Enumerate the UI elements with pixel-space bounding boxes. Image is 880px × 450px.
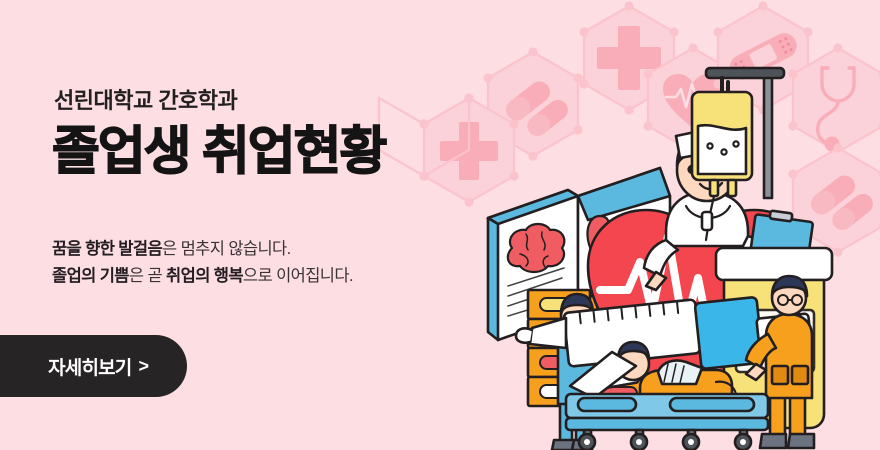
- bed-wheels: [579, 434, 751, 450]
- subtext-line-2: 졸업의 기쁨은 곧 취업의 행복으로 이어집니다.: [52, 263, 353, 290]
- subtext-group: 꿈을 향한 발걸음은 멈추지 않습니다. 졸업의 기쁨은 곧 취업의 행복으로 …: [52, 236, 353, 289]
- page-title: 졸업생 취업현황: [52, 126, 385, 178]
- hexagon-connector-nodes: [419, 119, 428, 180]
- subtext-line-2-middle: 은 곧: [129, 267, 166, 285]
- subtext-line-1: 꿈을 향한 발걸음은 멈추지 않습니다.: [52, 236, 353, 263]
- brain-diagram: [508, 224, 565, 272]
- subtext-line-1-rest: 은 멈추지 않습니다.: [162, 240, 291, 258]
- headline-group: 선린대학교 간호학과 졸업생 취업현황: [52, 90, 385, 178]
- cta-inner: 자세히보기 >: [48, 353, 187, 380]
- hexagon-cell-partial-left: [379, 98, 469, 176]
- chevron-right-icon: >: [138, 357, 149, 375]
- eyebrow-text: 선린대학교 간호학과: [54, 90, 385, 112]
- promo-banner: 선린대학교 간호학과 졸업생 취업현황 꿈을 향한 발걸음은 멈추지 않습니다.…: [0, 0, 880, 450]
- iv-bag: [692, 92, 752, 180]
- cta-label: 자세히보기: [48, 353, 131, 380]
- subtext-line-2-rest: 으로 이어집니다.: [243, 267, 353, 285]
- subtext-line-1-emphasis: 꿈을 향한 발걸음: [52, 240, 162, 258]
- view-details-button[interactable]: 자세히보기 >: [0, 335, 187, 397]
- nursing-medical-illustration: [470, 0, 880, 450]
- subtext-line-2-emphasis-b: 취업의 행복: [166, 267, 243, 285]
- subtext-line-2-emphasis-a: 졸업의 기쁨: [52, 267, 129, 285]
